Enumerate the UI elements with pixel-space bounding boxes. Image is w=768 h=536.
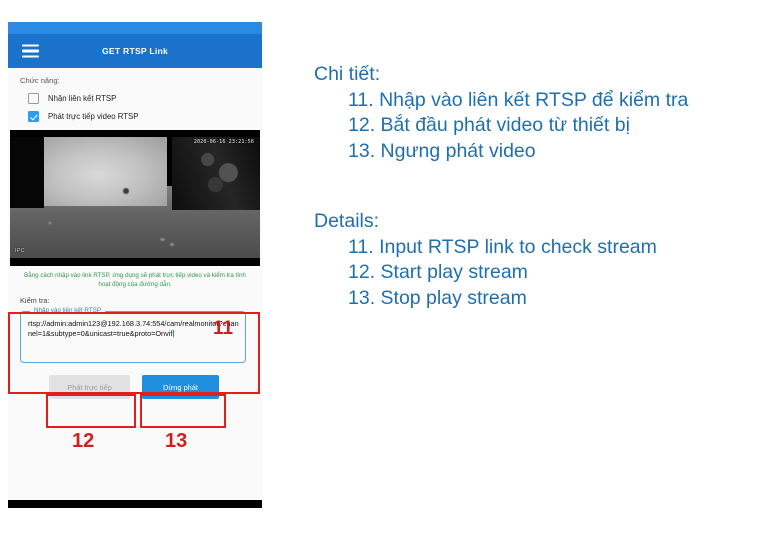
status-bar <box>8 22 262 34</box>
hint-text: Bằng cách nhập vào link RTSP, ứng dụng s… <box>18 271 252 290</box>
functions-label: Chức năng: <box>20 76 60 85</box>
video-watermark: IPC <box>15 248 25 254</box>
stop-stream-button[interactable]: Dừng phát <box>142 375 219 399</box>
video-clutter <box>192 144 244 196</box>
notes-item-en-13: 13. Stop play stream <box>348 286 764 312</box>
app-title: GET RTSP Link <box>8 46 262 56</box>
annotation-number-11: 11 <box>213 318 233 340</box>
video-speck <box>48 222 52 224</box>
notes-item-vi-13: 13. Ngưng phát video <box>348 139 764 165</box>
play-stream-button[interactable]: Phát trực tiếp <box>49 375 130 399</box>
video-preview[interactable]: 2020-06-16 23:21:56 IPC <box>10 130 260 266</box>
checkbox-row-stream-video[interactable]: Phát trực tiếp video RTSP <box>28 111 138 122</box>
video-dark-spot <box>123 188 129 194</box>
annotation-number-12: 12 <box>72 430 94 453</box>
video-wall <box>43 136 167 206</box>
video-frame <box>10 130 260 266</box>
app-body: Chức năng: Nhận liên kết RTSP Phát trực … <box>8 68 262 508</box>
video-speck <box>160 238 165 241</box>
rtsp-input-value[interactable]: rtsp://admin:admin123@192.168.3.74:554/c… <box>28 319 239 340</box>
rtsp-input-floating-label: Nhập vào liên kết RTSP <box>30 307 105 314</box>
video-timestamp: 2020-06-16 23:21:56 <box>194 139 254 145</box>
phone-screenshot: GET RTSP Link Chức năng: Nhận liên kết R… <box>8 22 262 508</box>
checkbox-label-stream-video: Phát trực tiếp video RTSP <box>48 112 138 121</box>
app-bar: GET RTSP Link <box>8 34 262 68</box>
notes-panel: Chi tiết: 11. Nhập vào liên kết RTSP để … <box>314 62 764 312</box>
notes-heading-en: Details: <box>314 209 764 235</box>
video-letterbox-bottom <box>10 258 260 266</box>
video-speck <box>170 243 174 246</box>
notes-item-vi-12: 12. Bắt đầu phát video từ thiết bị <box>348 113 764 139</box>
checkbox-stream-video[interactable] <box>28 111 39 122</box>
test-section-label: Kiểm tra: <box>20 296 50 305</box>
notes-item-vi-11: 11. Nhập vào liên kết RTSP để kiểm tra <box>348 88 764 114</box>
checkbox-row-get-rtsp-link[interactable]: Nhận liên kết RTSP <box>28 93 116 104</box>
checkbox-get-rtsp-link[interactable] <box>28 93 39 104</box>
notes-item-en-12: 12. Start play stream <box>348 260 764 286</box>
notes-item-en-11: 11. Input RTSP link to check stream <box>348 235 764 261</box>
notes-heading-vi: Chi tiết: <box>314 62 764 88</box>
hamburger-menu-icon[interactable] <box>22 45 39 58</box>
video-dark-left <box>10 130 44 208</box>
annotation-number-13: 13 <box>165 430 187 453</box>
notes-spacer <box>314 165 764 209</box>
checkbox-label-get-rtsp-link: Nhận liên kết RTSP <box>48 94 116 103</box>
video-letterbox-top <box>10 130 260 137</box>
android-navigation-bar <box>8 500 262 508</box>
